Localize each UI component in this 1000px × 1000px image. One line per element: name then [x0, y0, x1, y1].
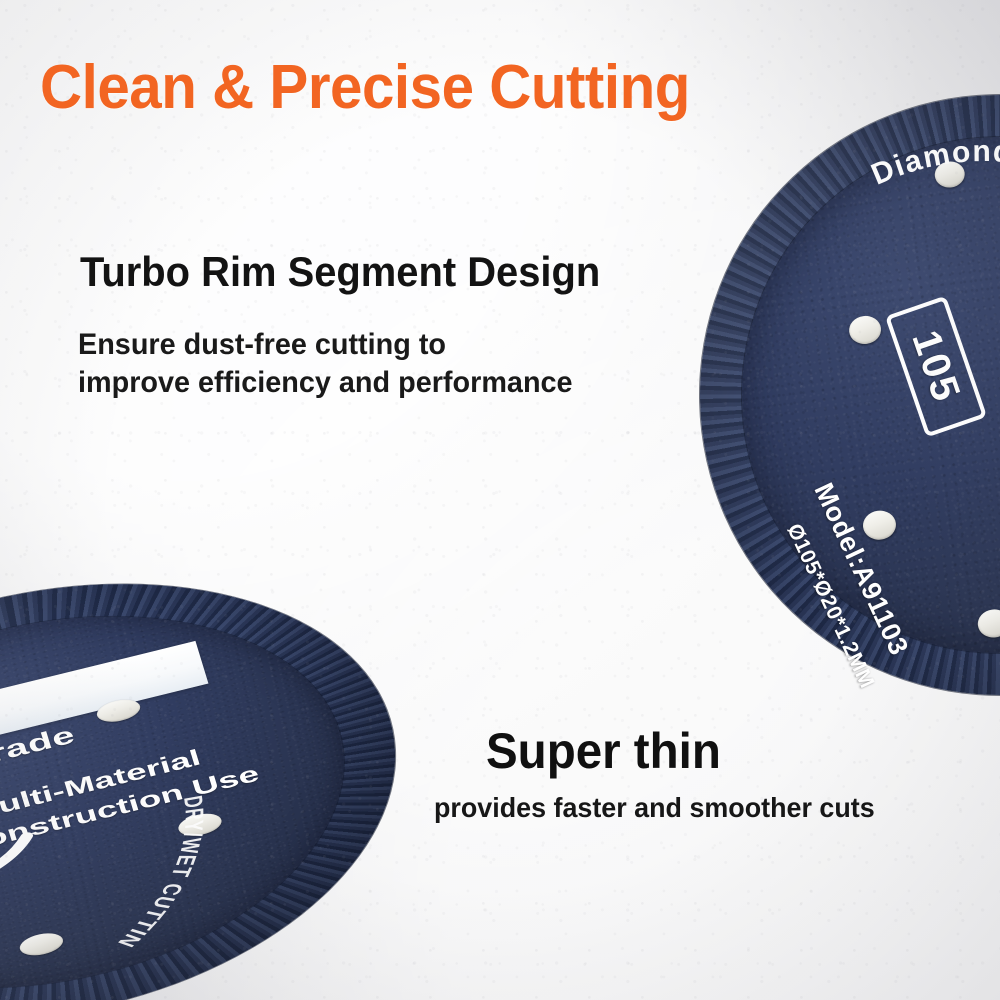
feature-two-body: provides faster and smoother cuts	[434, 792, 875, 824]
lower-left-disc: LER ® Industrial-grade Multi-Material Co…	[0, 524, 436, 1000]
feature-one-body: Ensure dust-free cutting to improve effi…	[78, 326, 573, 403]
feature-one-title: Turbo Rim Segment Design	[80, 248, 600, 296]
page-title: Clean & Precise Cutting	[40, 52, 690, 123]
product-marketing-image: Diamond Disc DR 105 Model:A91103 Ø105*Ø2…	[0, 0, 1000, 1000]
rim-text-dry-wet-cutting: DRY/WET CUTTING	[0, 524, 436, 1000]
feature-one-body-line-2: improve efficiency and performance	[78, 364, 573, 402]
upper-right-disc: Diamond Disc DR 105 Model:A91103 Ø105*Ø2…	[666, 61, 1000, 730]
rim-text-diamond-disc: Diamond Disc	[865, 119, 1000, 216]
feature-two-title: Super thin	[486, 722, 721, 780]
svg-text:Diamond Disc: Diamond Disc	[865, 119, 1000, 216]
svg-text:DRY/WET CUTTING: DRY/WET CUTTING	[0, 551, 236, 1000]
feature-one-body-line-1: Ensure dust-free cutting to	[78, 326, 573, 364]
